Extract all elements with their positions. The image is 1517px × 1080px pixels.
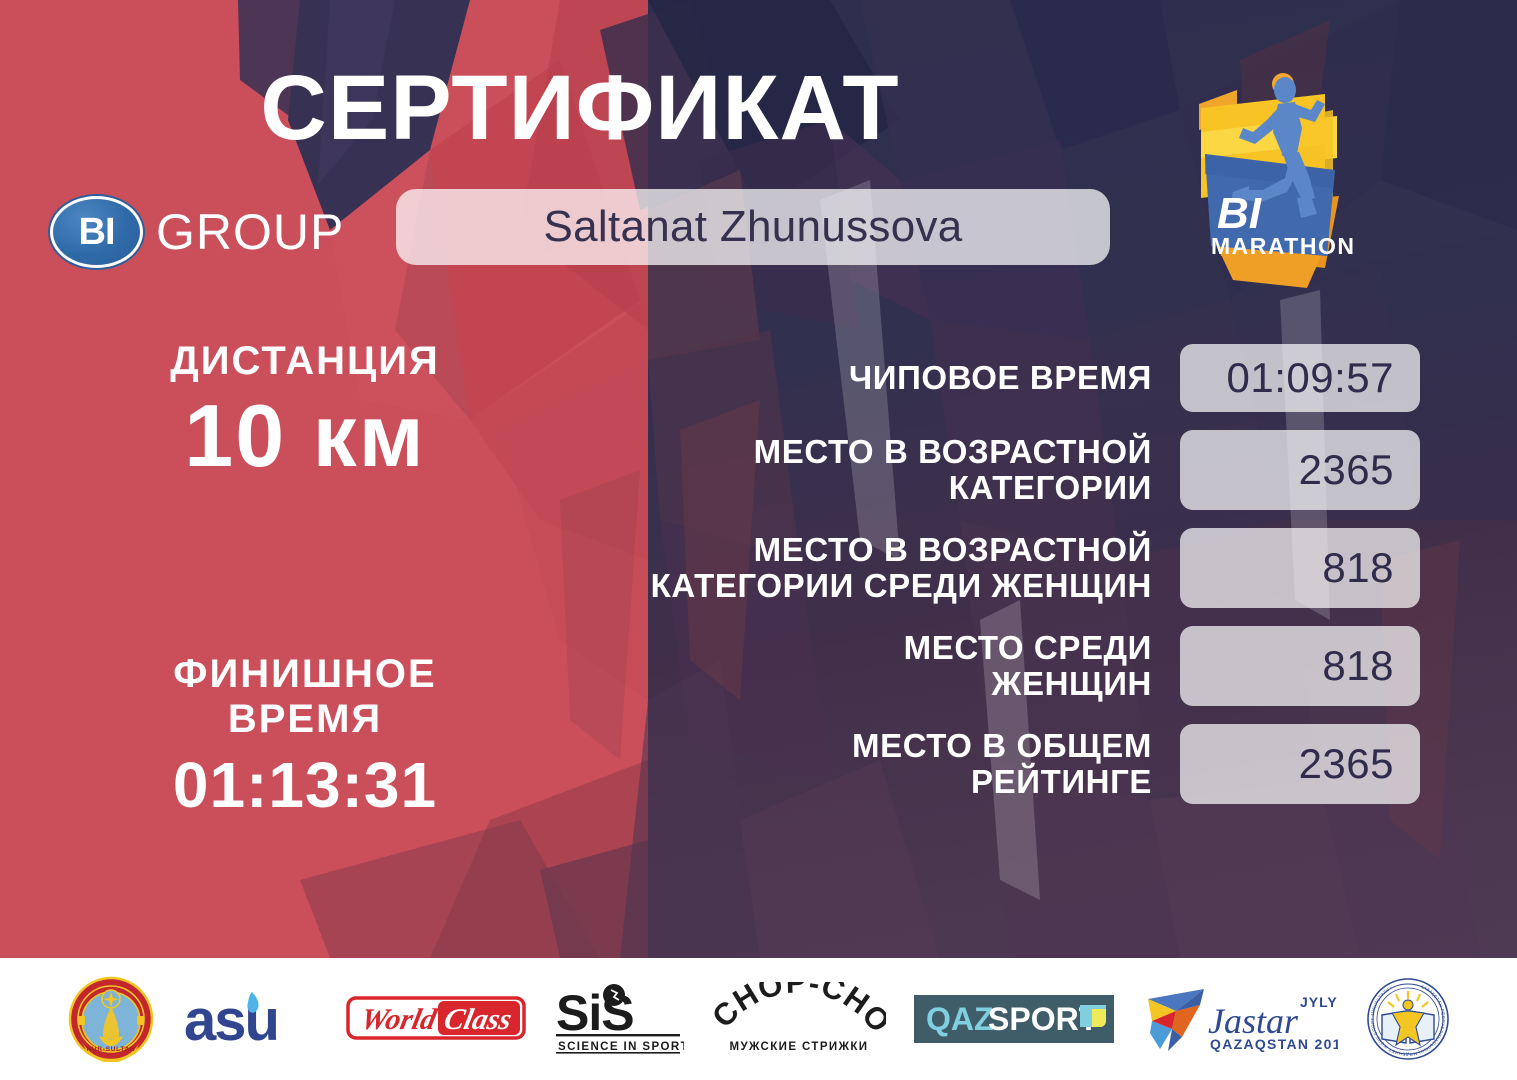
certificate-canvas: СЕРТИФИКАТ Saltanat Zhunussova BI GROUP [0, 0, 1517, 1080]
distance-value: 10 км [55, 390, 555, 482]
stat-value: 01:09:57 [1180, 344, 1420, 412]
stat-label: МЕСТО СРЕДИ ЖЕНЩИН [500, 630, 1180, 701]
participant-nameplate: Saltanat Zhunussova [396, 189, 1110, 265]
sponsor-nur-sultan-emblem: NUR-SULTAN [68, 976, 154, 1062]
bi-marathon-logo: BI MARATHON [1175, 58, 1375, 306]
jyly-text: JYLY [1300, 994, 1338, 1010]
sis-tagline: SCIENCE IN SPORT [558, 1041, 684, 1053]
nur-sultan-caption: NUR-SULTAN [86, 1046, 135, 1053]
bi-group-wordmark: GROUP [156, 203, 344, 261]
sponsor-qazsport-logo: QAZ SPORT [914, 995, 1114, 1043]
qaz-text: QAZ [926, 1001, 994, 1037]
qazaqstan-2019-text: QAZAQSTAN 2019 [1210, 1036, 1338, 1052]
page-title: СЕРТИФИКАТ [0, 62, 1160, 154]
world-text: World [358, 1002, 440, 1036]
jastar-wordmark: Jastar [1208, 1001, 1299, 1041]
sponsor-world-class-logo: World Class [346, 989, 526, 1049]
bi-marathon-marathon-text: MARATHON [1211, 233, 1355, 259]
sponsor-chop-chop-logo: CHOP-CHOP МУЖСКИЕ СТРИЖКИ [712, 982, 886, 1056]
stat-row: ЧИПОВОЕ ВРЕМЯ 01:09:57 [500, 344, 1420, 412]
chop-chop-wordmark: CHOP-CHOP [712, 982, 886, 1040]
right-stats-column: ЧИПОВОЕ ВРЕМЯ 01:09:57 МЕСТО В ВОЗРАСТНО… [500, 344, 1420, 822]
distance-label: ДИСТАНЦИЯ [55, 340, 555, 382]
finish-time-value: 01:13:31 [55, 752, 555, 819]
stat-label: МЕСТО В ВОЗРАСТНОЙ КАТЕГОРИИ [500, 434, 1180, 505]
sponsor-sis-logo: SiS SCIENCE IN SPORT [554, 982, 684, 1056]
stat-row: МЕСТО В ВОЗРАСТНОЙ КАТЕГОРИИ 2365 [500, 430, 1420, 510]
finish-time-label: ФИНИШНОЕ ВРЕМЯ [55, 652, 555, 742]
stat-value: 818 [1180, 528, 1420, 608]
sponsor-jastar-jyly-logo: Jastar JYLY QAZAQSTAN 2019 [1142, 981, 1338, 1057]
participant-name: Saltanat Zhunussova [543, 202, 962, 252]
asu-wordmark: asu [184, 988, 278, 1052]
stat-row: МЕСТО В ОБЩЕМ РЕЙТИНГЕ 2365 [500, 724, 1420, 804]
stat-value: 2365 [1180, 430, 1420, 510]
stat-label: МЕСТО В ОБЩЕМ РЕЙТИНГЕ [500, 728, 1180, 799]
stat-label: МЕСТО В ВОЗРАСТНОЙ КАТЕГОРИИ СРЕДИ ЖЕНЩИ… [500, 532, 1180, 603]
bi-marathon-bi-text: BI [1217, 189, 1262, 238]
class-text: Class [441, 1002, 515, 1036]
stat-value: 2365 [1180, 724, 1420, 804]
sponsor-bar: NUR-SULTAN asu World Class [0, 958, 1517, 1080]
stat-label: ЧИПОВОЕ ВРЕМЯ [500, 360, 1180, 396]
stat-value: 818 [1180, 626, 1420, 706]
stat-row: МЕСТО В ВОЗРАСТНОЙ КАТЕГОРИИ СРЕДИ ЖЕНЩИ… [500, 528, 1420, 608]
bi-group-logo: BI GROUP [50, 196, 344, 268]
stat-row: МЕСТО СРЕДИ ЖЕНЩИН 818 [500, 626, 1420, 706]
bi-logo-icon: BI [50, 196, 143, 268]
sponsor-asu-logo: asu [182, 986, 318, 1052]
left-stats-column: ДИСТАНЦИЯ 10 км ФИНИШНОЕ ВРЕМЯ 01:13:31 [55, 340, 555, 819]
chop-chop-tagline: МУЖСКИЕ СТРИЖКИ [729, 1041, 868, 1053]
sponsor-ministry-sport-emblem: ҚАЗАҚСТАН РЕСПУБЛИКАСЫНЫҢ МӘДЕНИЕТ ЖӘНЕ … [1366, 977, 1450, 1061]
